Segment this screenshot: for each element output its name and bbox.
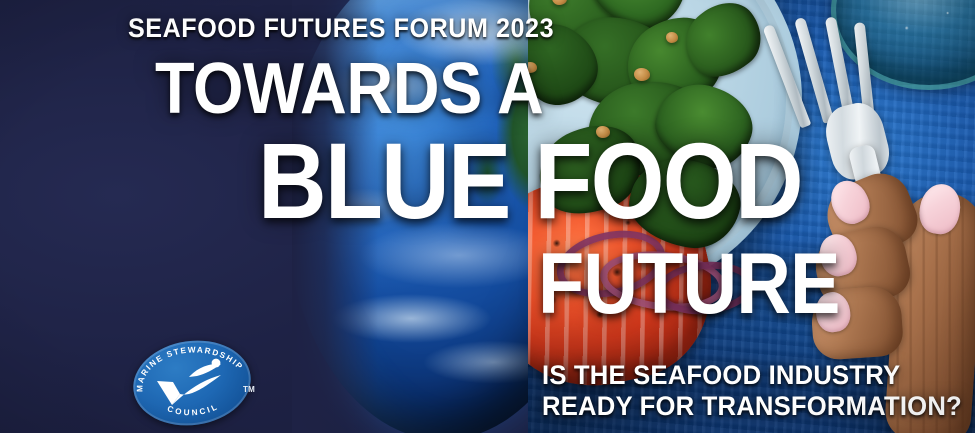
msc-trademark-symbol: TM [243, 385, 255, 394]
msc-logo[interactable]: MARINE STEWARDSHIP COUNCIL TM [133, 341, 261, 429]
subheadline-line-1: IS THE SEAFOOD INDUSTRY [542, 360, 962, 391]
subheadline-line-2: READY FOR TRANSFORMATION? [542, 391, 962, 422]
headline-line-3: FUTURE [538, 244, 840, 325]
event-kicker: SEAFOOD FUTURES FORUM 2023 [128, 13, 554, 44]
msc-arc-top-text: MARINE STEWARDSHIP [135, 345, 245, 392]
msc-fish-tick-icon [157, 359, 221, 405]
msc-logo-artwork: MARINE STEWARDSHIP COUNCIL [133, 341, 261, 429]
msc-arc-bottom-text: COUNCIL [166, 402, 220, 418]
headline-line-2: BLUE FOOD [258, 131, 802, 230]
seafood-futures-forum-banner: SEAFOOD FUTURES FORUM 2023 TOWARDS A BLU… [0, 0, 975, 433]
headline-line-1: TOWARDS A [155, 55, 543, 123]
subheadline: IS THE SEAFOOD INDUSTRY READY FOR TRANSF… [542, 360, 962, 423]
